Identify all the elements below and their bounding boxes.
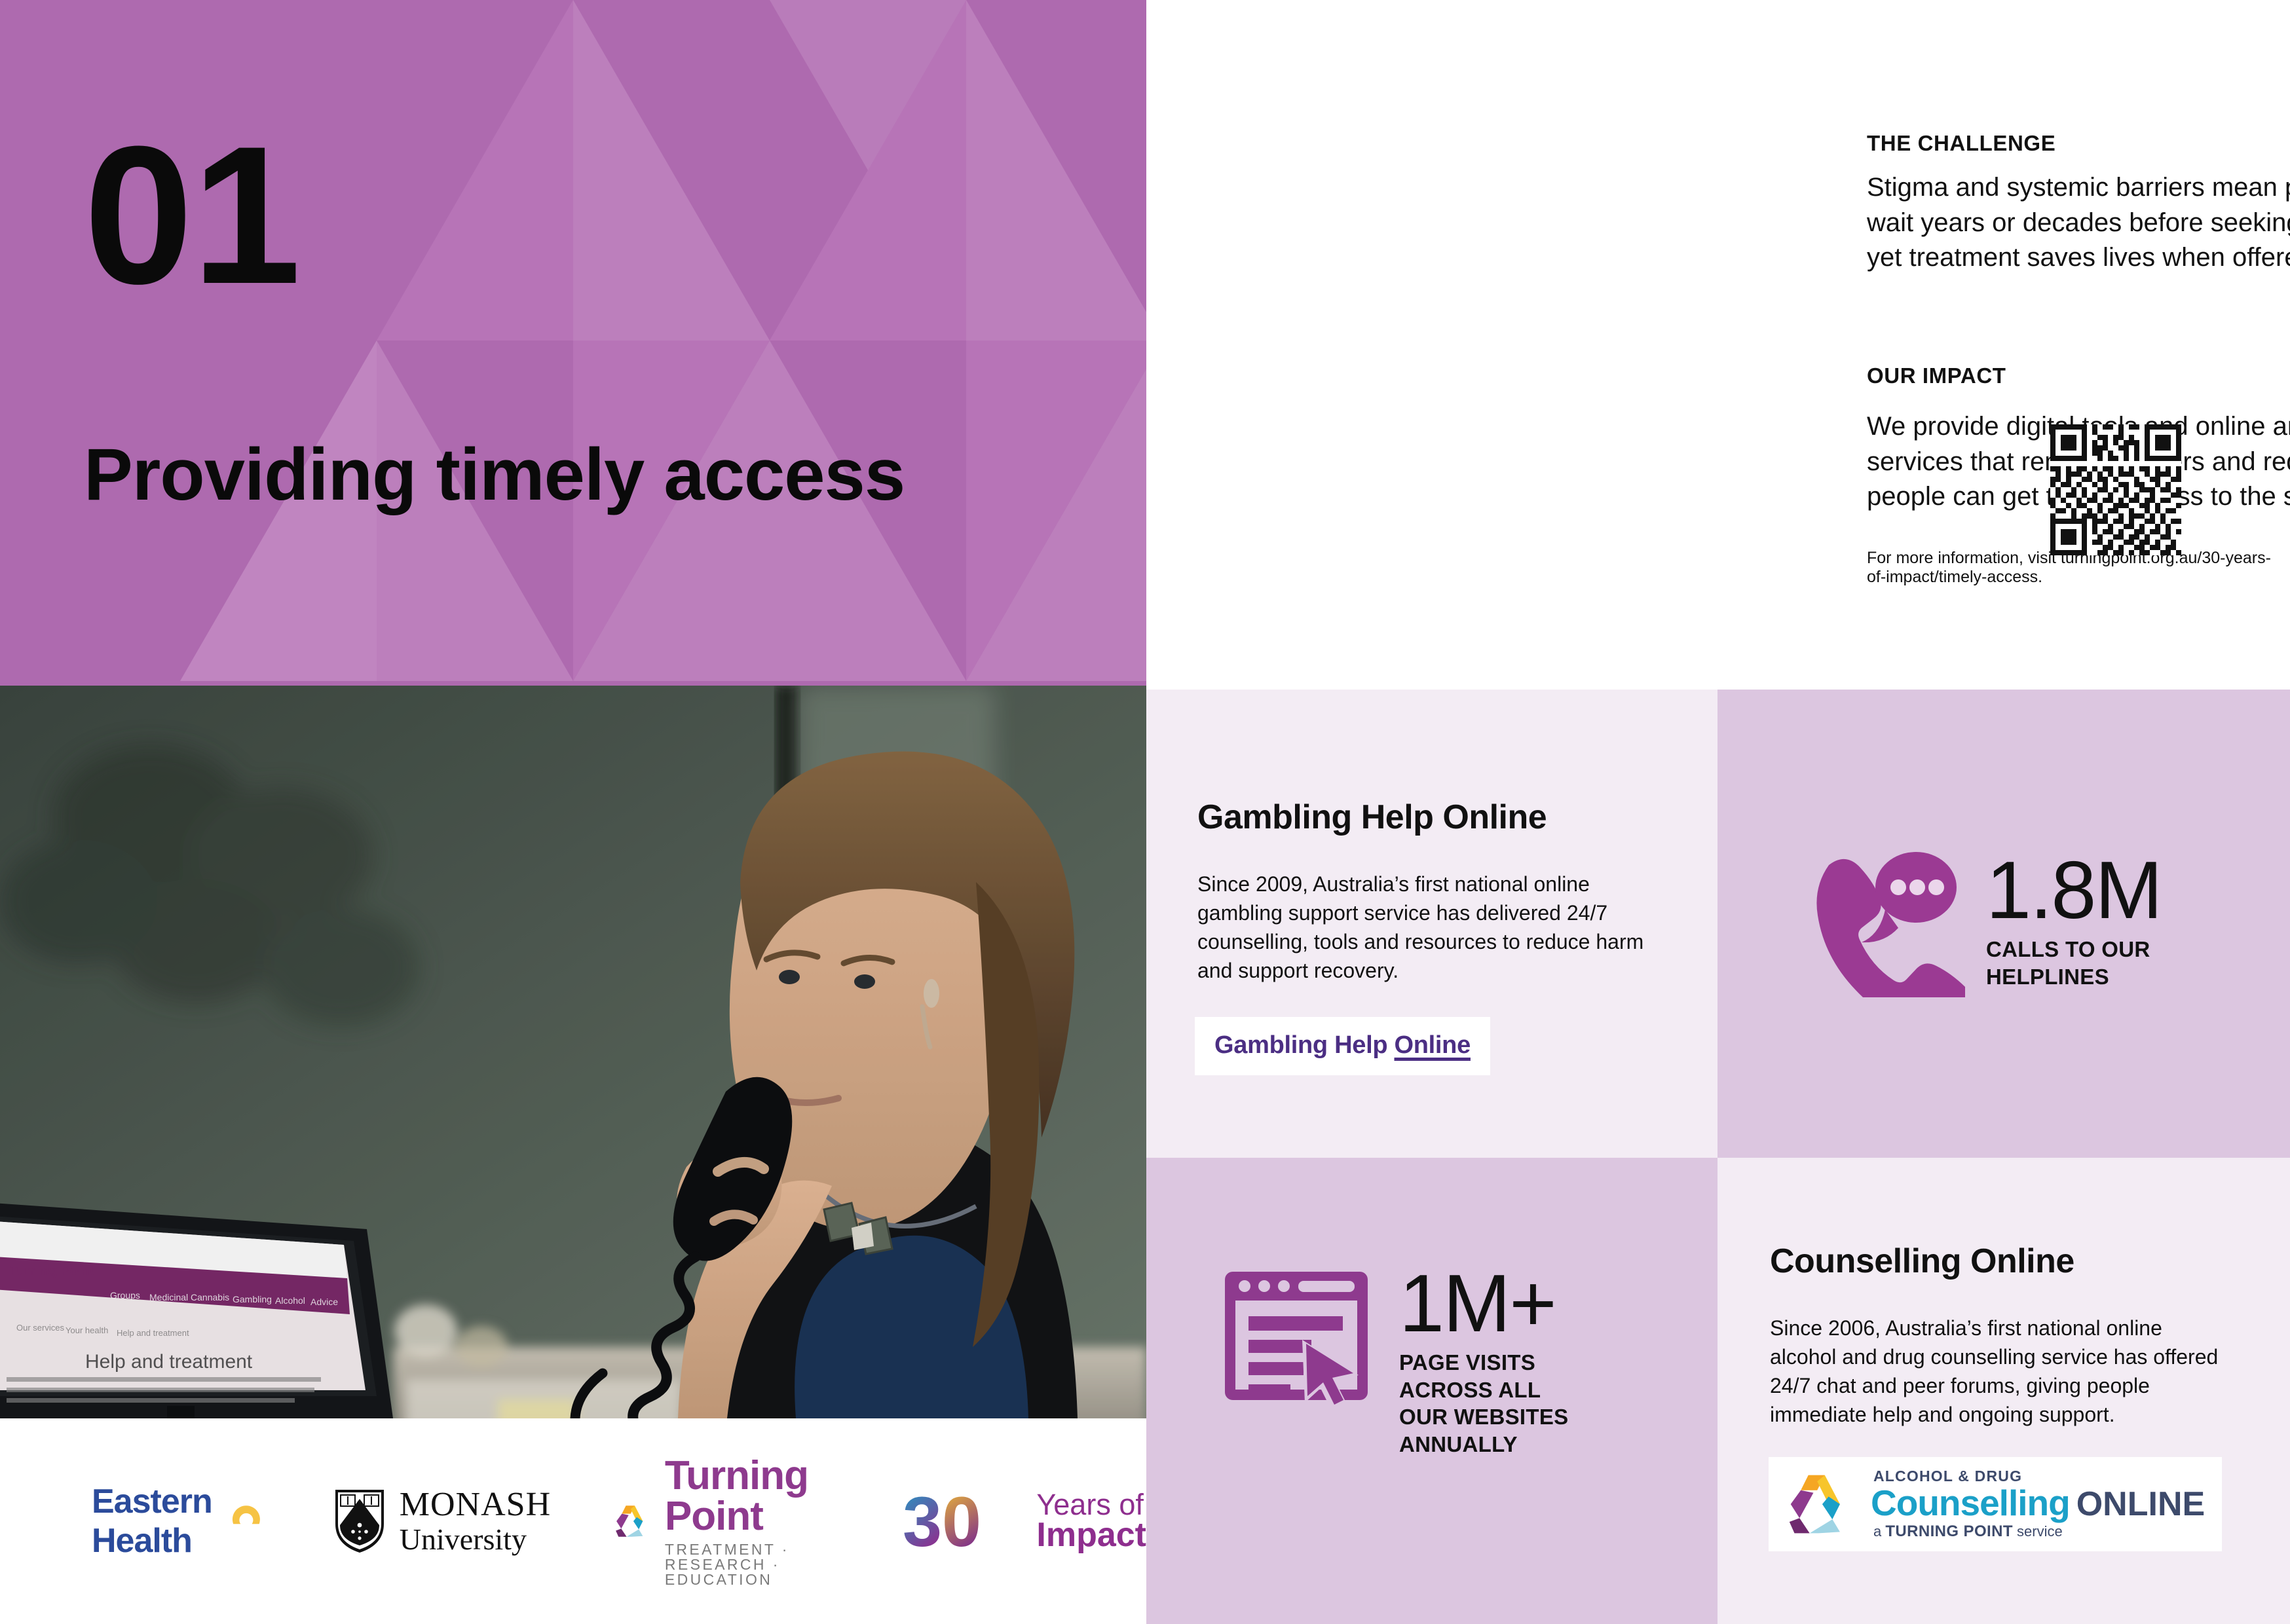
logo-turning-point: Turning Point TREATMENT · RESEARCH · EDU…	[614, 1456, 850, 1587]
monash-line-2: University	[400, 1524, 551, 1555]
years-of-label: Years of	[1036, 1491, 1146, 1519]
co-badge-word-online: ONLINE	[2076, 1485, 2205, 1523]
calls-stat-card: 1.8M CALLS TO OUR HELPLINES	[1717, 690, 2290, 1158]
visits-stat-value: 1M+	[1399, 1266, 1568, 1341]
logo-30-years-of-impact: 3 0 Years of Impact	[903, 1486, 1146, 1557]
turning-point-wordmark: Turning Point	[665, 1456, 850, 1537]
counselling-online-triangle-icon	[1786, 1470, 1856, 1538]
eastern-health-wordmark: Eastern Health	[92, 1482, 233, 1560]
counselling-card-title: Counselling Online	[1770, 1242, 2074, 1281]
visits-stat-label-2: ACROSS ALL	[1399, 1376, 1568, 1404]
counselling-online-badge[interactable]: ALCOHOL & DRUG CounsellingONLINE a TURNI…	[1769, 1457, 2222, 1551]
logo-eastern-health: Eastern Health	[92, 1482, 263, 1560]
gambling-help-online-badge[interactable]: Gambling Help Online	[1195, 1017, 1490, 1075]
thirty-years-gradient-number: 3 0	[903, 1486, 1034, 1557]
counselling-card-body: Since 2006, Australia’s first national o…	[1770, 1314, 2228, 1430]
svg-text:3: 3	[903, 1486, 942, 1557]
eastern-health-arc-icon	[229, 1485, 263, 1540]
hero-photo: Turning Point GroupsMedicinal Cannabis G…	[0, 686, 1146, 1418]
impact-kicker: OUR IMPACT	[1867, 363, 2006, 388]
gambling-help-online-card: Gambling Help Online Since 2009, Austral…	[1146, 690, 1717, 1158]
turning-point-triangle-icon	[614, 1487, 652, 1555]
photo-illustration: Turning Point GroupsMedicinal Cannabis G…	[0, 686, 1146, 1418]
co-badge-bottom-a: a	[1873, 1523, 1885, 1540]
monash-shield-icon	[331, 1487, 388, 1555]
monash-line-1: MONASH	[400, 1488, 551, 1522]
challenge-body: Stigma and systemic barriers mean people…	[1867, 170, 2290, 276]
svg-text:0: 0	[942, 1486, 981, 1557]
co-badge-bottom-c: service	[2013, 1523, 2063, 1540]
visits-stat-label-3: OUR WEBSITES	[1399, 1403, 1568, 1431]
counselling-online-card: Counselling Online Since 2006, Australia…	[1717, 1158, 2290, 1624]
co-badge-top-line: ALCOHOL & DRUG	[1873, 1469, 2205, 1484]
section-number: 01	[84, 134, 300, 295]
gambling-card-title: Gambling Help Online	[1197, 798, 1547, 837]
co-badge-word-counselling: Counselling	[1871, 1483, 2070, 1523]
intro-text-column: THE CHALLENGE Stigma and systemic barrie…	[1146, 0, 2290, 686]
infographic-page: 01 Providing timely access THE CHALLENGE…	[0, 0, 2290, 1624]
triangle-pattern-decoration	[0, 0, 1146, 686]
browser-cursor-icon	[1218, 1263, 1382, 1426]
calls-stat-value: 1.8M	[1986, 853, 2162, 928]
impact-label: Impact	[1036, 1519, 1146, 1551]
page-visits-stat-card: 1M+ PAGE VISITS ACROSS ALL OUR WEBSITES …	[1146, 1158, 1717, 1624]
hero-panel: 01 Providing timely access	[0, 0, 1146, 686]
gho-badge-text-2: Online	[1395, 1031, 1471, 1059]
challenge-kicker: THE CHALLENGE	[1867, 131, 2055, 156]
gho-badge-text-1: Gambling Help	[1214, 1031, 1395, 1059]
calls-stat-label-1: CALLS TO OUR	[1986, 936, 2162, 963]
phone-chat-icon	[1801, 847, 1965, 997]
co-badge-bottom-b: TURNING POINT	[1885, 1522, 2013, 1540]
qr-code-icon[interactable]	[2050, 424, 2181, 555]
gambling-card-body: Since 2009, Australia’s first national o…	[1197, 870, 1656, 986]
turning-point-tagline: TREATMENT · RESEARCH · EDUCATION	[665, 1542, 850, 1587]
calls-stat-label-2: HELPLINES	[1986, 963, 2162, 991]
logo-monash-university: MONASH University	[331, 1487, 551, 1555]
visits-stat-label-1: PAGE VISITS	[1399, 1349, 1568, 1376]
partner-logo-footer: Eastern Health MONASH University	[0, 1418, 1146, 1624]
visits-stat-label-4: ANNUALLY	[1399, 1431, 1568, 1458]
section-title: Providing timely access	[84, 432, 905, 517]
